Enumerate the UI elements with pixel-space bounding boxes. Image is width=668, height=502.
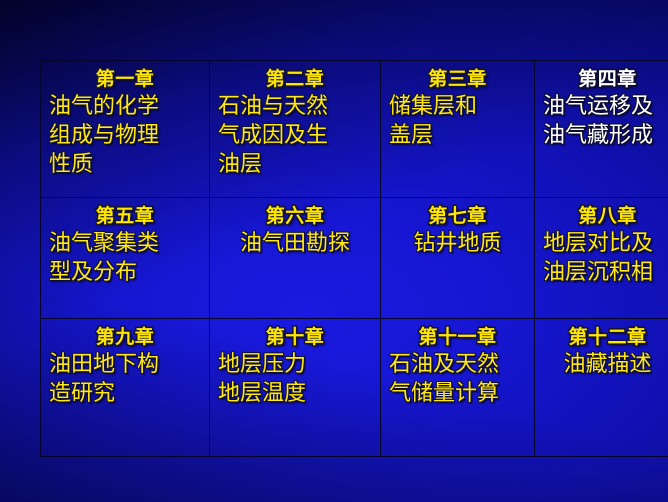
chapter-body-line: 性质 bbox=[49, 151, 203, 180]
chapter-cell-content: 第六章 油气田勘探 bbox=[216, 205, 374, 259]
chapter-cell-3[interactable]: 第三章 储集层和 盖层 bbox=[381, 61, 535, 198]
chapter-body-line: 石油及天然 bbox=[389, 351, 528, 380]
chapter-body: 油气运移及 油气藏形成 bbox=[541, 93, 668, 150]
chapter-body: 油气田勘探 bbox=[216, 230, 374, 259]
chapter-body-line: 气成因及生 bbox=[218, 122, 374, 151]
chapter-body-line: 气储量计算 bbox=[389, 380, 528, 409]
chapter-cell-10[interactable]: 第十章 地层压力 地层温度 bbox=[210, 319, 381, 457]
slide-canvas: 第一章 油气的化学 组成与物理 性质 第二章 石油与天然 气成因及生 bbox=[0, 0, 668, 502]
chapter-heading: 第十二章 bbox=[541, 326, 668, 348]
chapter-cell-content: 第一章 油气的化学 组成与物理 性质 bbox=[47, 68, 203, 179]
chapter-cell-content: 第七章 钻井地质 bbox=[387, 205, 528, 259]
chapter-body-line: 地层温度 bbox=[218, 380, 374, 409]
chapter-body-line: 油气田勘探 bbox=[216, 230, 374, 259]
table-row: 第一章 油气的化学 组成与物理 性质 第二章 石油与天然 气成因及生 bbox=[41, 61, 668, 198]
chapter-cell-content: 第九章 油田地下构 造研究 bbox=[47, 326, 203, 409]
chapter-body: 油田地下构 造研究 bbox=[47, 351, 203, 408]
chapter-cell-content: 第十章 地层压力 地层温度 bbox=[216, 326, 374, 409]
chapter-body: 油气的化学 组成与物理 性质 bbox=[47, 93, 203, 179]
chapter-overview-table: 第一章 油气的化学 组成与物理 性质 第二章 石油与天然 气成因及生 bbox=[40, 60, 668, 457]
chapter-body-line: 油藏描述 bbox=[541, 351, 668, 380]
chapter-body: 钻井地质 bbox=[387, 230, 528, 259]
chapter-body-line: 钻井地质 bbox=[387, 230, 528, 259]
chapter-body-line: 地层对比及 bbox=[543, 230, 668, 259]
chapter-body-line: 油层沉积相 bbox=[543, 259, 668, 288]
chapter-cell-2[interactable]: 第二章 石油与天然 气成因及生 油层 bbox=[210, 61, 381, 198]
chapter-body-line: 地层压力 bbox=[218, 351, 374, 380]
chapter-body: 地层压力 地层温度 bbox=[216, 351, 374, 408]
chapter-cell-9[interactable]: 第九章 油田地下构 造研究 bbox=[41, 319, 210, 457]
chapter-cell-4[interactable]: 第四章 油气运移及 油气藏形成 bbox=[535, 61, 668, 198]
chapter-cell-content: 第二章 石油与天然 气成因及生 油层 bbox=[216, 68, 374, 179]
chapter-heading: 第八章 bbox=[541, 205, 668, 227]
chapter-body: 油藏描述 bbox=[541, 351, 668, 380]
chapter-cell-5[interactable]: 第五章 油气聚集类 型及分布 bbox=[41, 198, 210, 319]
chapter-heading: 第七章 bbox=[387, 205, 528, 227]
chapter-body-line: 油气聚集类 bbox=[49, 230, 203, 259]
table-row: 第九章 油田地下构 造研究 第十章 地层压力 地层温度 bbox=[41, 319, 668, 457]
chapter-cell-content: 第八章 地层对比及 油层沉积相 bbox=[541, 205, 668, 288]
chapter-body-line: 油层 bbox=[218, 151, 374, 180]
chapter-body-line: 油气的化学 bbox=[49, 93, 203, 122]
chapter-body-line: 油田地下构 bbox=[49, 351, 203, 380]
chapter-cell-12[interactable]: 第十二章 油藏描述 bbox=[535, 319, 668, 457]
chapter-body-line: 储集层和 bbox=[389, 93, 528, 122]
chapter-cell-content: 第十二章 油藏描述 bbox=[541, 326, 668, 380]
chapter-body-line: 组成与物理 bbox=[49, 122, 203, 151]
chapter-body: 石油与天然 气成因及生 油层 bbox=[216, 93, 374, 179]
chapter-cell-11[interactable]: 第十一章 石油及天然 气储量计算 bbox=[381, 319, 535, 457]
chapter-cell-6[interactable]: 第六章 油气田勘探 bbox=[210, 198, 381, 319]
chapter-cell-content: 第四章 油气运移及 油气藏形成 bbox=[541, 68, 668, 151]
chapter-body-line: 油气运移及 bbox=[543, 93, 668, 122]
chapter-body: 储集层和 盖层 bbox=[387, 93, 528, 150]
chapter-heading: 第九章 bbox=[47, 326, 203, 348]
chapter-heading: 第十一章 bbox=[387, 326, 528, 348]
chapter-body: 油气聚集类 型及分布 bbox=[47, 230, 203, 287]
chapter-body-line: 型及分布 bbox=[49, 259, 203, 288]
chapter-body-line: 石油与天然 bbox=[218, 93, 374, 122]
chapter-cell-8[interactable]: 第八章 地层对比及 油层沉积相 bbox=[535, 198, 668, 319]
chapter-heading: 第五章 bbox=[47, 205, 203, 227]
chapter-heading: 第三章 bbox=[387, 68, 528, 90]
table-row: 第五章 油气聚集类 型及分布 第六章 油气田勘探 bbox=[41, 198, 668, 319]
chapter-heading: 第十章 bbox=[216, 326, 374, 348]
chapter-heading: 第四章 bbox=[541, 68, 668, 90]
chapter-cell-7[interactable]: 第七章 钻井地质 bbox=[381, 198, 535, 319]
chapter-cell-content: 第三章 储集层和 盖层 bbox=[387, 68, 528, 151]
table-body: 第一章 油气的化学 组成与物理 性质 第二章 石油与天然 气成因及生 bbox=[41, 61, 668, 457]
chapter-body: 地层对比及 油层沉积相 bbox=[541, 230, 668, 287]
chapter-heading: 第六章 bbox=[216, 205, 374, 227]
chapter-body: 石油及天然 气储量计算 bbox=[387, 351, 528, 408]
chapter-body-line: 盖层 bbox=[389, 122, 528, 151]
chapter-body-line: 造研究 bbox=[49, 380, 203, 409]
chapter-cell-1[interactable]: 第一章 油气的化学 组成与物理 性质 bbox=[41, 61, 210, 198]
chapter-cell-content: 第五章 油气聚集类 型及分布 bbox=[47, 205, 203, 288]
chapter-body-line: 油气藏形成 bbox=[543, 122, 668, 151]
chapter-cell-content: 第十一章 石油及天然 气储量计算 bbox=[387, 326, 528, 409]
chapter-heading: 第一章 bbox=[47, 68, 203, 90]
chapter-heading: 第二章 bbox=[216, 68, 374, 90]
